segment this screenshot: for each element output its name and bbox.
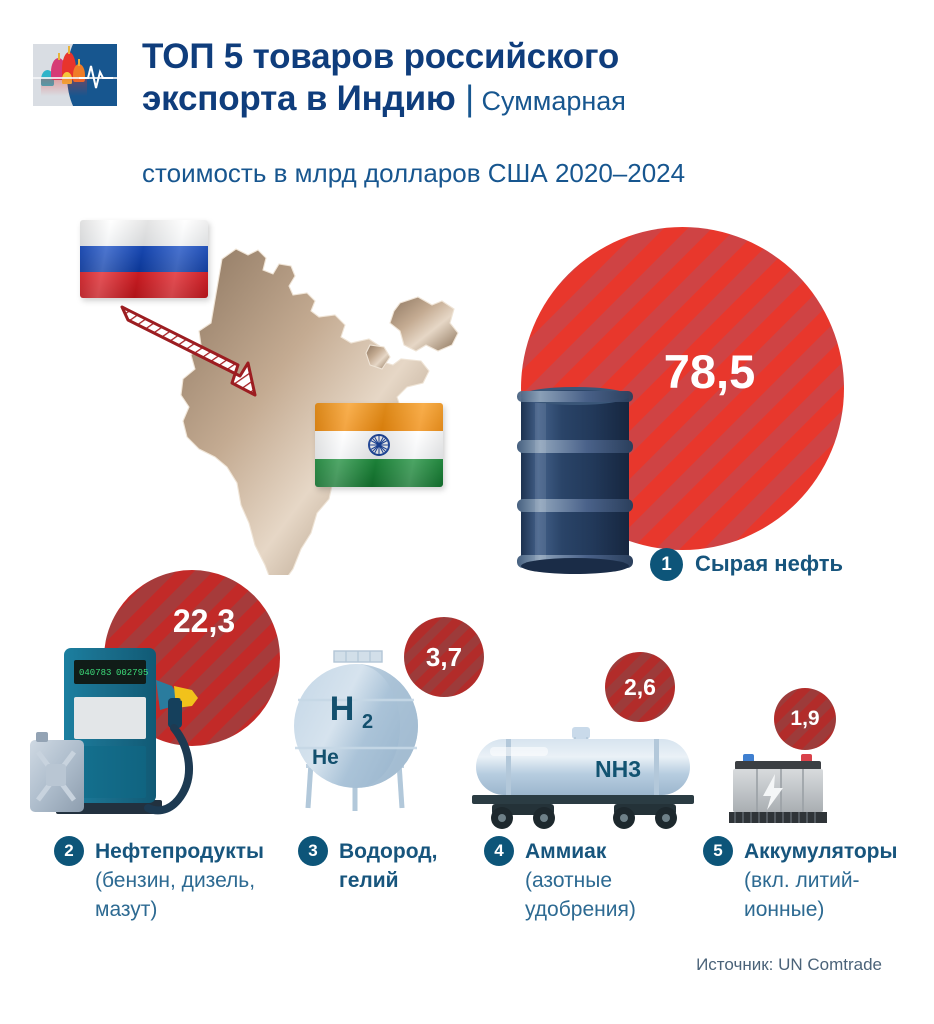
rbc-style-logo-icon [33,44,117,106]
value-label-1: 78,5 [664,344,755,399]
tank-wagon-icon: NH3 [468,723,703,833]
header: ТОП 5 товаров российского экспорта в Инд… [0,0,934,200]
fuel-pump-icon: 040783002795 [28,640,228,825]
wagon-label-nh3: NH3 [595,756,641,782]
svg-text:002795: 002795 [116,668,148,678]
source-note: Источник: UN Comtrade [696,955,882,975]
item-label-5-line3: ионные) [744,895,919,924]
tank-label-he: He [312,746,339,769]
item-label-2-line3: мазут) [95,895,310,924]
infographic-canvas: ТОП 5 товаров российского экспорта в Инд… [0,0,934,1024]
item-label-2-line1: Нефтепродукты [95,837,310,866]
tank-label-h2: H [330,690,355,728]
item-label-5-line1: Аккумуляторы [744,837,919,866]
item-label-1: Сырая нефть [695,550,843,577]
item-label-2: Нефтепродукты (бензин, дизель, мазут) [95,837,310,924]
item-label-3: Водород, гелий [339,837,489,895]
item-label-2-line2: (бензин, дизель, [95,866,310,895]
item-label-5-line2: (вкл. литий- [744,866,919,895]
rank-badge-2: 2 [54,836,84,866]
value-label-4: 2,6 [624,674,656,701]
item-label-5: Аккумуляторы (вкл. литий- ионные) [744,837,919,924]
rank-label-2: 2 [64,841,73,861]
title-line-1: ТОП 5 товаров российского [142,37,619,76]
map-region [70,215,490,575]
value-label-5: 1,9 [790,707,819,731]
rank-badge-5: 5 [703,836,733,866]
item-label-1-line1: Сырая нефть [695,550,843,577]
logo-spire-1 [68,46,70,54]
page-title: ТОП 5 товаров российского экспорта в Инд… [142,36,902,122]
logo-pulse-icon [79,58,113,92]
item-label-3-line1: Водород, [339,837,489,866]
item-label-4-line2: (азотные [525,866,695,895]
value-label-3: 3,7 [426,642,462,673]
rank-label-4: 4 [494,841,503,861]
svg-text:040783: 040783 [79,668,111,678]
oil-barrel-icon [513,383,637,576]
export-arrow-icon [70,215,490,575]
rank-badge-1: 1 [650,548,683,581]
rank-label-5: 5 [713,841,722,861]
rank-label-3: 3 [308,841,317,861]
value-circle-5: 1,9 [774,688,836,750]
item-label-4-line1: Аммиак [525,837,695,866]
rank-label-1: 1 [661,554,672,576]
rank-badge-3: 3 [298,836,328,866]
item-label-3-line2: гелий [339,866,489,895]
item-label-4: Аммиак (азотные удобрения) [525,837,695,924]
title-divider: | [465,79,474,118]
value-label-2: 22,3 [173,603,235,640]
page-subtitle: стоимость в млрд долларов США 2020–2024 [142,157,922,189]
gas-sphere-tank-icon: H 2 He [290,648,440,823]
rank-badge-4: 4 [484,836,514,866]
value-circle-4: 2,6 [605,652,675,722]
item-label-4-line3: удобрения) [525,895,695,924]
battery-icon [723,752,833,830]
title-suffix: Суммарная [482,86,626,116]
title-line-2: экспорта в Индию [142,79,456,118]
logo-spire-2 [58,53,60,60]
tank-label-h2-sub: 2 [362,711,373,733]
